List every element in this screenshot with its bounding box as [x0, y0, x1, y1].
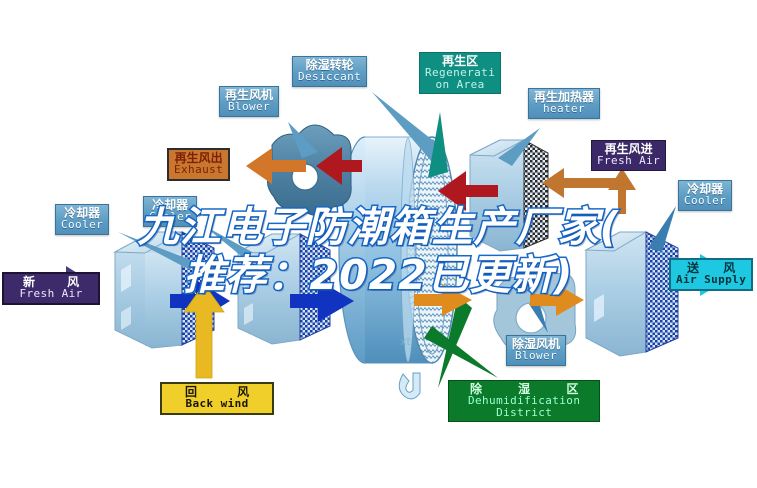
label-en: heater [534, 103, 594, 114]
mid-cooler-coil [238, 234, 330, 344]
label-en: Exhaust [174, 164, 223, 175]
label-en-line2: on Area [425, 79, 495, 90]
post-cooler-coil [586, 232, 678, 356]
label-regen-fresh-air[interactable]: 再生风进 Fresh Air [591, 140, 666, 171]
label-en: Cooler [149, 211, 191, 222]
label-dehumidification-district[interactable]: 除 湿 区 Dehumidification District [448, 380, 600, 422]
label-en: Cooler [61, 219, 103, 230]
svg-text:xt: xt [400, 335, 412, 348]
label-air-supply[interactable]: 送 风 Air Supply [669, 258, 753, 291]
condensate-drain [399, 373, 420, 399]
label-en: Blower [512, 350, 560, 361]
diagram-canvas: xt [0, 0, 757, 488]
label-fresh-air[interactable]: 新 风 Fresh Air [2, 272, 100, 305]
label-en: Back wind [167, 398, 267, 409]
label-desiccant-rotor[interactable]: 除湿转轮 Desiccant [292, 56, 367, 87]
label-cooler-right[interactable]: 冷却器 Cooler [678, 180, 732, 211]
label-exhaust[interactable]: 再生风出 Exhaust [167, 148, 230, 181]
label-regeneration-heater[interactable]: 再生加热器 heater [528, 88, 600, 119]
schematic-svg: xt [0, 0, 757, 488]
label-en: Air Supply [676, 274, 746, 285]
fresh-air-riser-arrow [608, 168, 636, 214]
heater-inlet-arrow [542, 168, 622, 198]
label-regen-blower[interactable]: 再生风机 Blower [219, 86, 279, 117]
label-en: Desiccant [298, 71, 361, 82]
label-en: Cooler [684, 195, 726, 206]
label-dehumidification-blower[interactable]: 除湿风机 Blower [506, 335, 566, 366]
label-regeneration-area[interactable]: 再生区 Regenerati on Area [419, 52, 501, 94]
label-cooler-left-2[interactable]: 冷却器 Cooler [143, 196, 197, 227]
label-en: Fresh Air [9, 288, 93, 299]
label-en: Blower [225, 101, 273, 112]
label-en: Fresh Air [597, 155, 660, 166]
label-back-wind[interactable]: 回 风 Back wind [160, 382, 274, 415]
label-cooler-left-1[interactable]: 冷却器 Cooler [55, 204, 109, 235]
label-en-line2: District [454, 407, 594, 418]
